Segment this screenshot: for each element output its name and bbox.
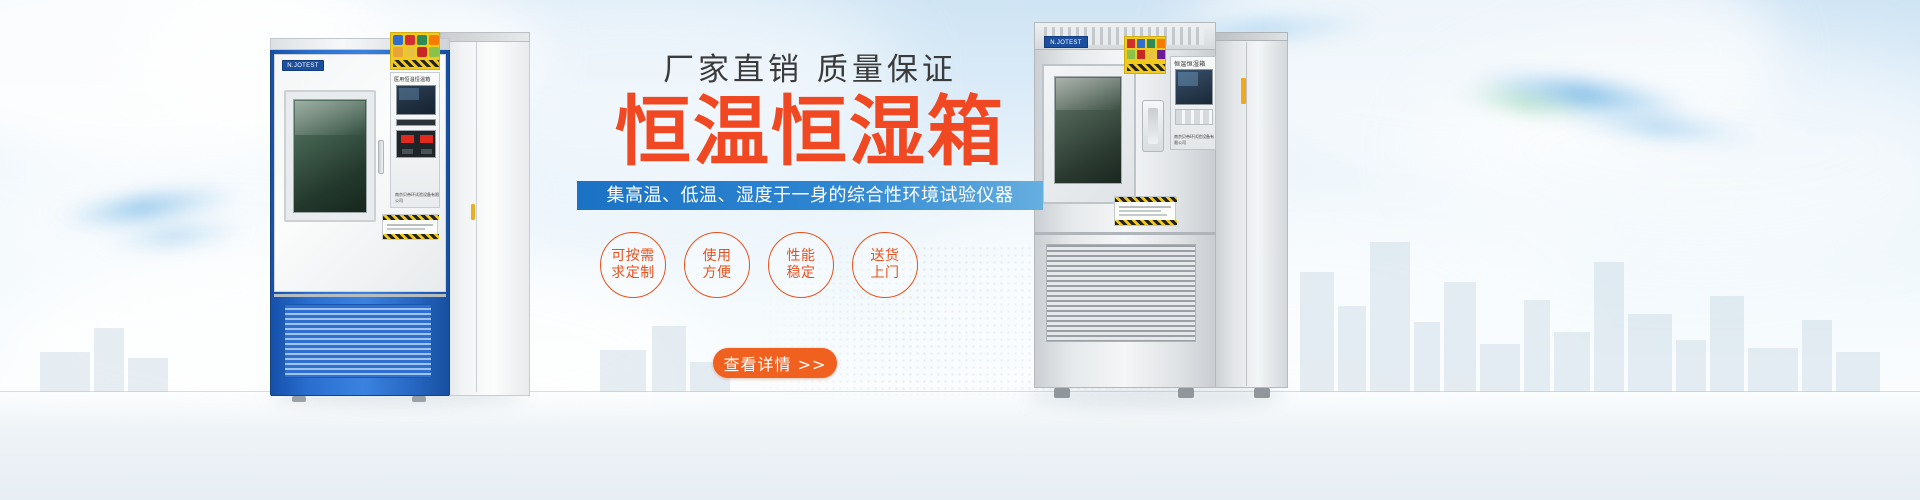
machine-right-warning-sticker — [1124, 36, 1166, 74]
machine-left-panel-title: 医用恒温恒温箱 — [394, 76, 430, 83]
machine-left-side-cabinet — [440, 40, 530, 396]
feature-circle-1[interactable]: 可按需 求定制 — [600, 232, 666, 298]
view-details-button[interactable]: 查看详情 >> — [713, 348, 837, 378]
machine-right-control-panel[interactable]: 恒温恒湿箱 南京贝帝环试验设备有限公司 — [1170, 56, 1216, 150]
machine-right-caution-label — [1114, 196, 1176, 226]
feature-circle-3[interactable]: 性能 稳定 — [768, 232, 834, 298]
machine-left-side-seam — [476, 42, 477, 392]
machine-right-side-cabinet-top — [1210, 32, 1288, 41]
machine-left-caution-label — [382, 214, 438, 240]
machine-left-divider — [274, 294, 446, 297]
ground-plane — [0, 390, 1920, 500]
machine-left-side-latch — [471, 204, 475, 220]
machine-right-company-text: 南京贝帝环试验设备有限公司 — [1174, 134, 1215, 146]
feature-circle-2[interactable]: 使用 方便 — [684, 232, 750, 298]
machine-left-foot-2 — [412, 396, 426, 402]
promo-banner: 医用恒温恒温箱 南京贝帝环试验设备有限公司 — [0, 0, 1920, 500]
machine-right-divider — [1034, 232, 1216, 235]
machine-right-panel-title: 恒温恒湿箱 — [1174, 59, 1206, 68]
machine-right-window-glare — [1056, 78, 1120, 110]
feature-circle-4-line2: 上门 — [871, 265, 900, 282]
machine-left-btn-2[interactable] — [421, 149, 432, 154]
machine-right-side-cabinet — [1210, 40, 1288, 388]
machine-left: 医用恒温恒温箱 南京贝帝环试验设备有限公司 — [262, 32, 530, 400]
machine-left-side-cabinet-top — [440, 32, 530, 42]
feature-circle-3-line2: 稳定 — [787, 265, 816, 282]
machine-right-accent-stripe — [1241, 78, 1246, 104]
machine-left-btn-1[interactable] — [402, 149, 413, 154]
machine-right: 恒温恒湿箱 南京贝帝环试验设备有限公司 N.JOTEST — [1020, 14, 1290, 400]
machine-right-hmi-screen[interactable] — [1175, 69, 1213, 105]
machine-left-company-text: 南京贝帝环试验设备有限公司 — [395, 192, 439, 204]
machine-right-leg-1 — [1054, 388, 1070, 398]
banner-text-block: 厂家直销 质量保证 恒温恒湿箱 集高温、低温、湿度于一身的综合性环境试验仪器 — [560, 44, 1060, 210]
machine-right-leg-3 — [1254, 388, 1270, 398]
banner-tagline: 厂家直销 质量保证 — [560, 44, 1060, 89]
machine-left-control-panel[interactable]: 医用恒温恒温箱 南京贝帝环试验设备有限公司 — [390, 72, 440, 208]
machine-left-readout-panel — [396, 130, 436, 158]
banner-subtitle: 集高温、低温、湿度于一身的综合性环境试验仪器 — [577, 181, 1043, 210]
feature-circle-list: 可按需 求定制 使用 方便 性能 稳定 送货 上门 — [600, 232, 1020, 302]
machine-left-brand-badge: N.JOTEST — [282, 60, 324, 71]
machine-left-readout-strip — [396, 119, 436, 126]
machine-right-keypad[interactable] — [1175, 109, 1213, 125]
feature-circle-2-line1: 使用 — [703, 248, 732, 265]
feature-circle-3-line1: 性能 — [787, 248, 816, 265]
machine-left-foot-1 — [292, 396, 306, 402]
machine-left-hmi-glare — [399, 88, 419, 100]
machine-left-vent-grille — [284, 304, 432, 378]
machine-left-window-glare — [295, 101, 365, 135]
machine-right-side-seam — [1246, 42, 1247, 386]
machine-left-readout-2 — [420, 135, 433, 143]
machine-right-leg-2 — [1178, 388, 1194, 398]
feature-circle-4-line1: 送货 — [871, 248, 900, 265]
feature-circle-4[interactable]: 送货 上门 — [852, 232, 918, 298]
feature-circle-1-line1: 可按需 — [611, 248, 655, 265]
machine-left-door-handle — [378, 140, 384, 174]
machine-left-readout-1 — [401, 135, 414, 143]
feature-circle-1-line2: 求定制 — [611, 265, 655, 282]
machine-left-warning-sticker — [390, 32, 440, 70]
machine-right-handle-grip — [1148, 108, 1158, 144]
machine-right-vent-grille — [1046, 244, 1196, 342]
machine-right-hmi-glare — [1178, 72, 1198, 86]
banner-headline: 恒温恒湿箱 — [560, 91, 1060, 173]
feature-circle-2-line2: 方便 — [703, 265, 732, 282]
machine-left-hmi-screen[interactable] — [396, 85, 436, 115]
